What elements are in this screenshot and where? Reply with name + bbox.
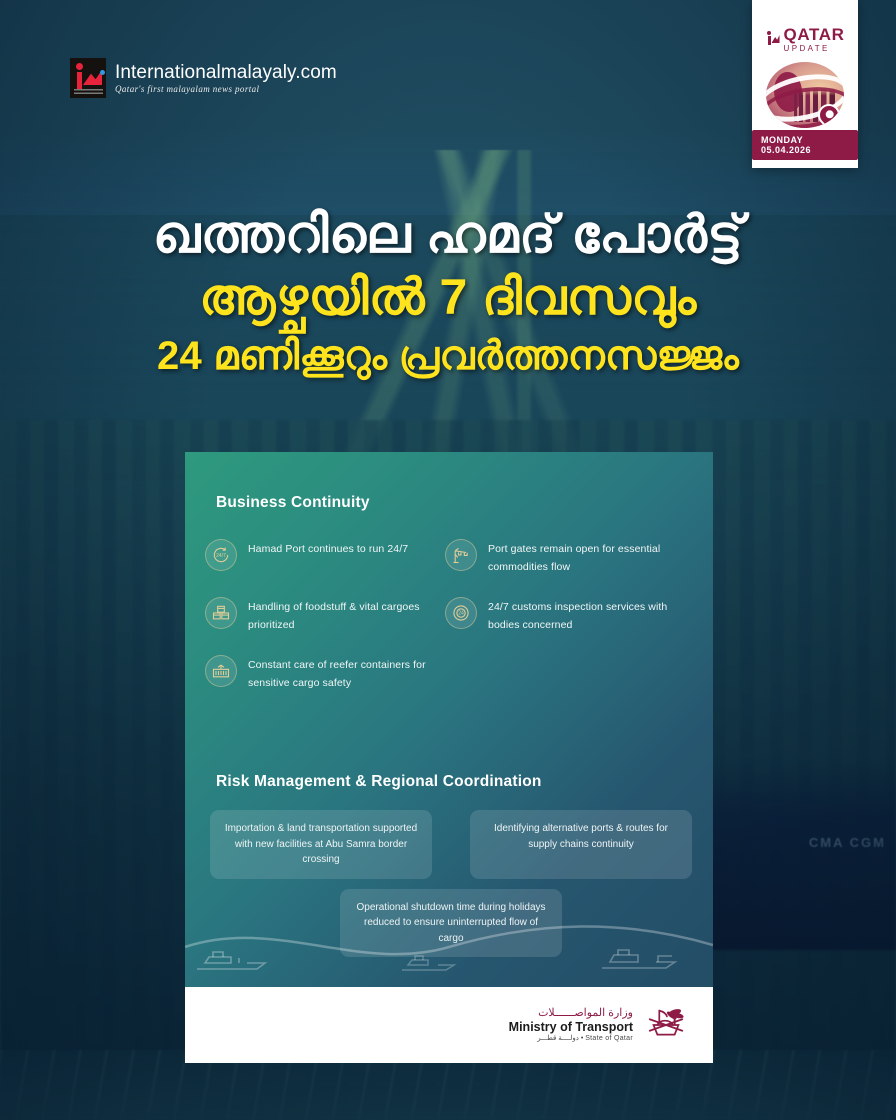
badge-brand-qatar: QATAR	[784, 26, 845, 43]
svg-text:24/7: 24/7	[216, 553, 226, 559]
site-name: Internationalmalayaly.com	[115, 63, 337, 82]
business-continuity-items: 24/7 Hamad Port continues to run 24/7 Po…	[205, 538, 697, 711]
im-logo-icon	[70, 58, 106, 98]
ship-outline-icon	[600, 945, 686, 977]
section-title-business-continuity: Business Continuity	[216, 494, 370, 512]
list-item: Constant care of reefer containers for s…	[205, 654, 445, 712]
infographic-card: Business Continuity 24/7 Hamad Port cont…	[185, 452, 713, 1063]
pill-item: Identifying alternative ports & routes f…	[470, 810, 692, 879]
site-logo[interactable]: Internationalmalayaly.com Qatar's first …	[70, 58, 337, 98]
ship-outline-icon	[400, 951, 460, 977]
svg-text:24: 24	[458, 610, 464, 616]
qatar-emblem-icon	[643, 1002, 689, 1048]
site-tagline: Qatar's first malayalam news portal	[115, 85, 337, 94]
headline-line-3: 24 മണിക്കൂറും പ്രവർത്തനസജ്ജം	[0, 333, 896, 380]
ship-outline-icon	[195, 947, 275, 977]
list-item-text: Handling of foodstuff & vital cargoes pr…	[248, 596, 445, 635]
list-item-placeholder	[445, 654, 685, 712]
headline-line-1: ഖത്തറിലെ ഹമദ് പോർട്ട്	[0, 205, 896, 266]
reefer-container-icon	[205, 655, 237, 687]
list-item: Handling of foodstuff & vital cargoes pr…	[205, 596, 445, 654]
list-item: Port gates remain open for essential com…	[445, 538, 685, 596]
badge-date: MONDAY 05.04.2026	[752, 130, 858, 160]
ministry-state-sub: دولــــة قطـــر • State of Qatar	[509, 1035, 633, 1043]
port-crane-icon	[445, 539, 477, 571]
list-item-text: Port gates remain open for essential com…	[488, 538, 685, 577]
badge-brand: QATAR UPDATE	[766, 26, 845, 53]
list-item-text: Hamad Port continues to run 24/7	[248, 538, 408, 558]
headline-line-2: ആഴ്ചയിൽ 7 ദിവസവും	[0, 268, 896, 327]
ministry-footer: وزارة المواصــــــلات Ministry of Transp…	[185, 987, 713, 1063]
list-item-text: 24/7 customs inspection services with bo…	[488, 596, 685, 635]
headline: ഖത്തറിലെ ഹമദ് പോർട്ട് ആഴ്ചയിൽ 7 ദിവസവും …	[0, 205, 896, 381]
clock-247-icon: 24/7	[205, 539, 237, 571]
list-item: 24 24/7 customs inspection services with…	[445, 596, 685, 654]
badge-brand-update: UPDATE	[784, 45, 845, 53]
pill-item: Importation & land transportation suppor…	[210, 810, 432, 879]
badge-logo-icon	[766, 31, 780, 48]
section-title-risk-management: Risk Management & Regional Coordination	[216, 773, 542, 791]
list-item-text: Constant care of reefer containers for s…	[248, 654, 445, 693]
ministry-name-arabic: وزارة المواصــــــلات	[509, 1007, 633, 1020]
list-item: 24/7 Hamad Port continues to run 24/7	[205, 538, 445, 596]
customs-24-icon: 24	[445, 597, 477, 629]
stacked-boxes-icon	[205, 597, 237, 629]
qatar-update-badge: QATAR UPDATE MONDAY 05.04.2026	[752, 0, 858, 168]
ministry-name-english: Ministry of Transport	[509, 1020, 633, 1034]
qatar-skyline-icon	[766, 62, 844, 128]
